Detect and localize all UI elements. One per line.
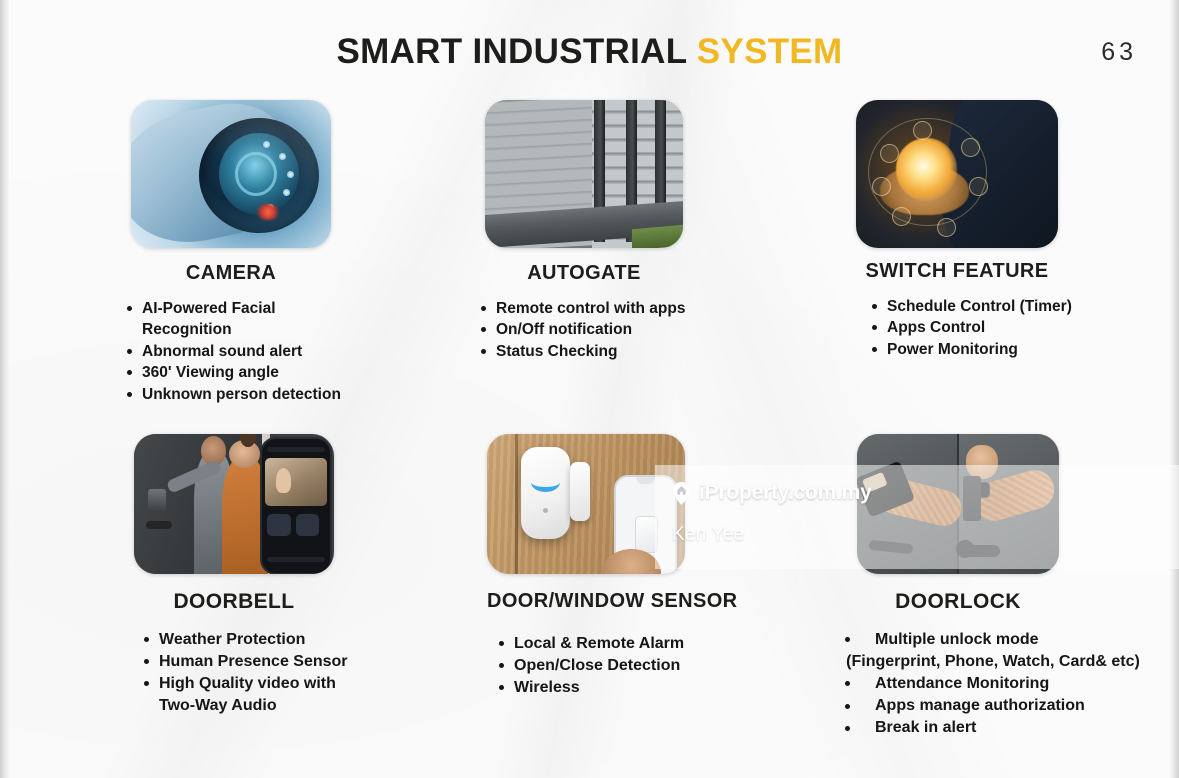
list-item: Recognition	[125, 319, 365, 340]
page-title-accent: SYSTEM	[697, 32, 843, 71]
watermark-brand: iProperty.com.my	[672, 481, 872, 505]
card-switch-feature: SWITCH FEATURE Schedule Control (Timer) …	[856, 100, 1058, 360]
doorbell-image	[134, 434, 334, 574]
list-item: Apps Control	[870, 317, 1100, 338]
list-item: Weather Protection	[142, 629, 372, 651]
list-item: Local & Remote Alarm	[497, 633, 727, 655]
list-item: Remote control with apps	[479, 298, 719, 319]
slide-right-edge	[1170, 0, 1179, 778]
list-item: Unknown person detection	[125, 384, 365, 405]
door-window-sensor-image	[487, 434, 685, 574]
card-title-doorbell: DOORBELL	[134, 590, 334, 614]
card-door-window-sensor: DOOR/WINDOW SENSOR Local & Remote Alarm …	[487, 434, 685, 699]
list-item: Abnormal sound alert	[125, 341, 365, 362]
feature-list-doorbell: Weather Protection Human Presence Sensor…	[142, 629, 372, 717]
list-item: Break in alert	[843, 717, 1143, 739]
list-item: AI-Powered Facial	[125, 298, 365, 319]
doorlock-image	[857, 434, 1059, 574]
list-item: 360' Viewing angle	[125, 362, 365, 383]
card-autogate: AUTOGATE Remote control with apps On/Off…	[485, 100, 683, 362]
watermark-user: Ken Yee	[672, 524, 744, 546]
list-item: Power Monitoring	[870, 339, 1100, 360]
list-item: (Fingerprint, Phone, Watch, Card& etc)	[843, 651, 1143, 673]
card-title-autogate: AUTOGATE	[485, 262, 683, 285]
list-item: Attendance Monitoring	[843, 673, 1143, 695]
list-item: Wireless	[497, 677, 727, 699]
list-item: Apps manage authorization	[843, 695, 1143, 717]
page-title: SMART INDUSTRIAL SYSTEM	[0, 32, 1179, 72]
page-number: 63	[1101, 38, 1137, 67]
list-item: Human Presence Sensor	[142, 651, 372, 673]
slide-left-edge	[0, 0, 9, 778]
list-item: High Quality video with	[142, 673, 372, 695]
list-item: Two-Way Audio	[142, 695, 372, 717]
location-pin-home-icon	[672, 482, 691, 505]
feature-list-autogate: Remote control with apps On/Off notifica…	[479, 298, 719, 362]
switch-feature-image	[856, 100, 1058, 248]
watermark-brand-text: iProperty.com.my	[699, 481, 872, 505]
card-title-switch-feature: SWITCH FEATURE	[856, 260, 1058, 283]
camera-image	[131, 100, 331, 248]
slide-canvas: SMART INDUSTRIAL SYSTEM 63 CAMERA AI-Pow…	[0, 0, 1179, 778]
card-title-camera: CAMERA	[131, 262, 331, 285]
feature-list-door-window-sensor: Local & Remote Alarm Open/Close Detectio…	[497, 633, 727, 699]
card-doorbell: DOORBELL Weather Protection Human Presen…	[134, 434, 334, 717]
card-camera: CAMERA AI-Powered Facial Recognition Abn…	[131, 100, 331, 405]
list-item: On/Off notification	[479, 319, 719, 340]
autogate-image	[485, 100, 683, 248]
list-item: Open/Close Detection	[497, 655, 727, 677]
feature-list-doorlock: Multiple unlock mode (Fingerprint, Phone…	[843, 629, 1143, 739]
card-doorlock: DOORLOCK Multiple unlock mode (Fingerpri…	[857, 434, 1059, 739]
card-title-doorlock: DOORLOCK	[857, 590, 1059, 614]
list-item: Status Checking	[479, 341, 719, 362]
feature-list-switch-feature: Schedule Control (Timer) Apps Control Po…	[870, 296, 1100, 360]
list-item: Multiple unlock mode	[843, 629, 1143, 651]
feature-list-camera: AI-Powered Facial Recognition Abnormal s…	[125, 298, 365, 405]
list-item: Schedule Control (Timer)	[870, 296, 1100, 317]
card-title-door-window-sensor: DOOR/WINDOW SENSOR	[487, 590, 685, 613]
page-title-main: SMART INDUSTRIAL	[337, 32, 697, 71]
